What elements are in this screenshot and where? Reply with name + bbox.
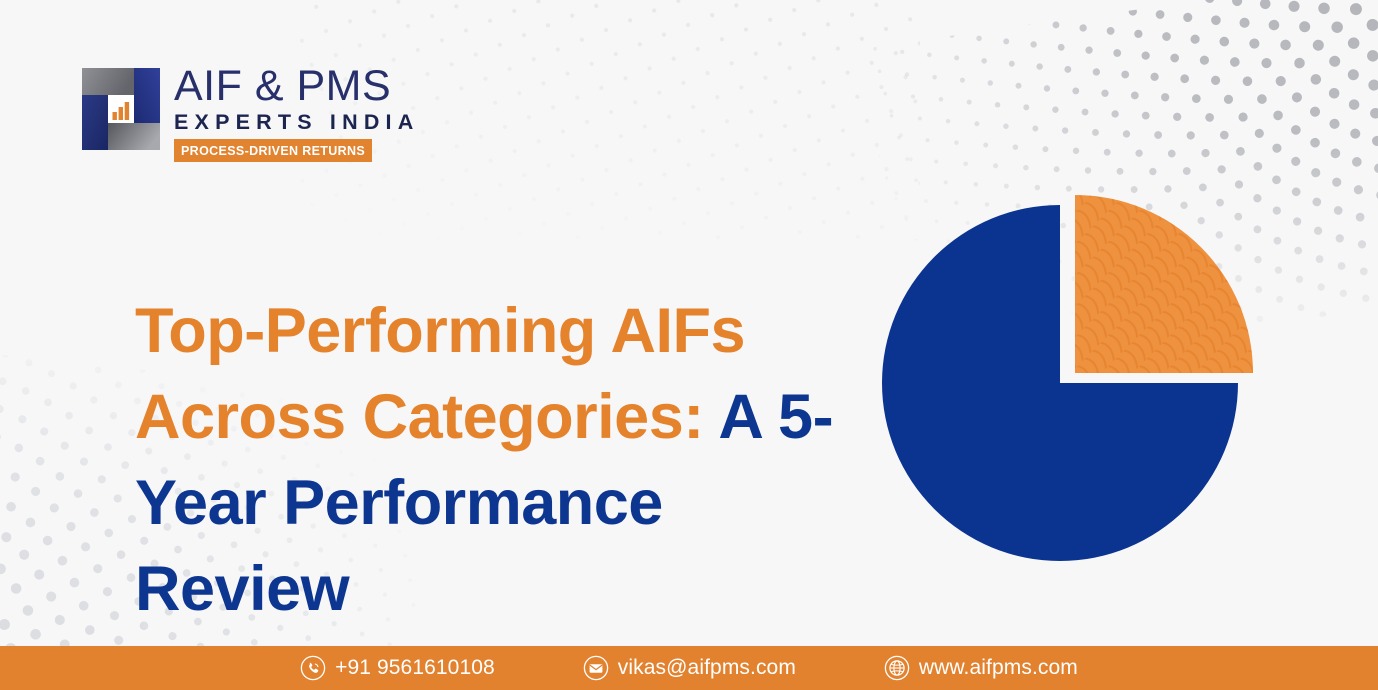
pie-slice-highlight-hatch — [1075, 195, 1253, 373]
logo-tagline-badge: PROCESS-DRIVEN RETURNS — [174, 139, 372, 162]
contact-email[interactable]: vikas@aifpms.com — [583, 655, 796, 681]
globe-icon — [884, 655, 910, 681]
pie-chart — [880, 185, 1275, 580]
contact-email-label: vikas@aifpms.com — [618, 657, 796, 679]
logo-wordmark: AIF & PMS EXPERTS INDIA PROCESS-DRIVEN R… — [174, 62, 419, 162]
brand-logo[interactable]: AIF & PMS EXPERTS INDIA PROCESS-DRIVEN R… — [80, 62, 419, 162]
pie-slice-highlight — [1075, 195, 1253, 373]
contact-footer-bar: +91 9561610108 vikas@aifpms.com www.aifp… — [0, 646, 1378, 690]
contact-website[interactable]: www.aifpms.com — [884, 655, 1078, 681]
contact-website-label: www.aifpms.com — [919, 657, 1078, 679]
logo-title: AIF & PMS — [174, 64, 419, 108]
bar-chart-in-rotating-squares-logo-icon — [80, 66, 162, 152]
page-title: Top-Performing AIFs Across Categories: A… — [135, 288, 875, 632]
logo-mark — [80, 62, 162, 156]
phone-icon — [300, 655, 326, 681]
envelope-icon — [583, 655, 609, 681]
banner-canvas: AIF & PMS EXPERTS INDIA PROCESS-DRIVEN R… — [0, 0, 1378, 690]
contact-phone[interactable]: +91 9561610108 — [300, 655, 495, 681]
logo-subtitle: EXPERTS INDIA — [174, 109, 419, 135]
page-title-accent-part: Top-Performing AIFs Across Categories: — [135, 296, 745, 452]
contact-phone-label: +91 9561610108 — [335, 657, 495, 679]
